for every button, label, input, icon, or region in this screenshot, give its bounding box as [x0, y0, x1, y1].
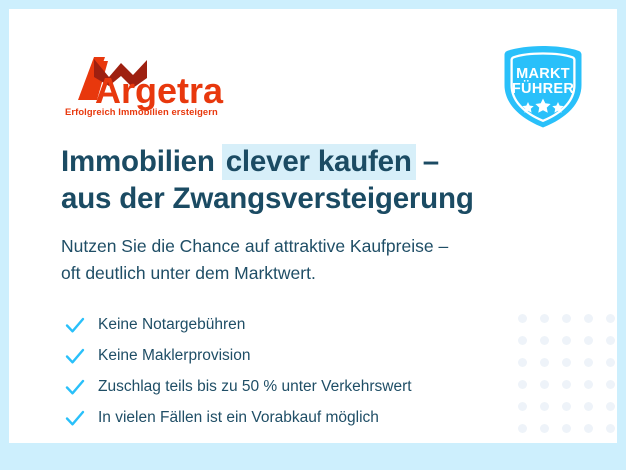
dot — [540, 424, 549, 433]
dot — [562, 380, 571, 389]
promo-banner: Argetra Erfolgreich Immobilien ersteiger… — [0, 0, 626, 470]
dot — [584, 402, 593, 411]
check-icon — [64, 345, 86, 367]
subheadline-line-2: oft deutlich unter dem Marktwert. — [61, 260, 561, 287]
badge-line2: FÜHRER — [512, 80, 574, 97]
headline-line-1: Immobilien clever kaufen – — [61, 143, 531, 180]
subheadline: Nutzen Sie die Chance auf attraktive Kau… — [61, 233, 561, 287]
dot — [562, 358, 571, 367]
list-item: Zuschlag teils bis zu 50 % unter Verkehr… — [64, 371, 534, 402]
headline-text-pre: Immobilien — [61, 145, 223, 178]
badge-line1: MARKT — [516, 66, 570, 82]
dot — [606, 380, 615, 389]
dot — [562, 424, 571, 433]
list-item: Keine Notargebühren — [64, 309, 534, 340]
dot — [562, 314, 571, 323]
check-icon — [64, 314, 86, 336]
dot — [606, 402, 615, 411]
dot — [540, 402, 549, 411]
list-item: In vielen Fällen ist ein Vorabkauf mögli… — [64, 402, 534, 433]
banner-card: Argetra Erfolgreich Immobilien ersteiger… — [9, 9, 617, 443]
dot — [562, 336, 571, 345]
argetra-logo[interactable]: Argetra Erfolgreich Immobilien ersteiger… — [61, 55, 261, 117]
dot — [540, 314, 549, 323]
dot — [540, 380, 549, 389]
dot — [584, 380, 593, 389]
headline: Immobilien clever kaufen – aus der Zwang… — [61, 143, 531, 217]
subheadline-line-1: Nutzen Sie die Chance auf attraktive Kau… — [61, 233, 561, 260]
dot — [584, 314, 593, 323]
list-item-label: In vielen Fällen ist ein Vorabkauf mögli… — [98, 408, 379, 428]
dot — [562, 402, 571, 411]
benefits-list: Keine Notargebühren Keine Maklerprovisio… — [64, 309, 534, 433]
dot — [606, 358, 615, 367]
dot — [606, 424, 615, 433]
dot — [584, 336, 593, 345]
headline-line-2: aus der Zwangsversteigerung — [61, 180, 531, 217]
dot — [584, 424, 593, 433]
dot — [606, 314, 615, 323]
dot — [540, 336, 549, 345]
check-icon — [64, 376, 86, 398]
headline-text-post: – — [415, 145, 439, 178]
dot — [584, 358, 593, 367]
dot — [606, 336, 615, 345]
logo-tagline: Erfolgreich Immobilien ersteigern — [65, 106, 218, 117]
logo-wordmark: Argetra — [95, 70, 224, 111]
dot — [540, 358, 549, 367]
list-item-label: Keine Maklerprovision — [98, 346, 251, 366]
list-item: Keine Maklerprovision — [64, 340, 534, 371]
market-leader-badge: MARKT FÜHRER — [499, 45, 587, 129]
check-icon — [64, 407, 86, 429]
list-item-label: Keine Notargebühren — [98, 315, 245, 335]
headline-highlight: clever kaufen — [222, 144, 416, 180]
list-item-label: Zuschlag teils bis zu 50 % unter Verkehr… — [98, 377, 412, 397]
